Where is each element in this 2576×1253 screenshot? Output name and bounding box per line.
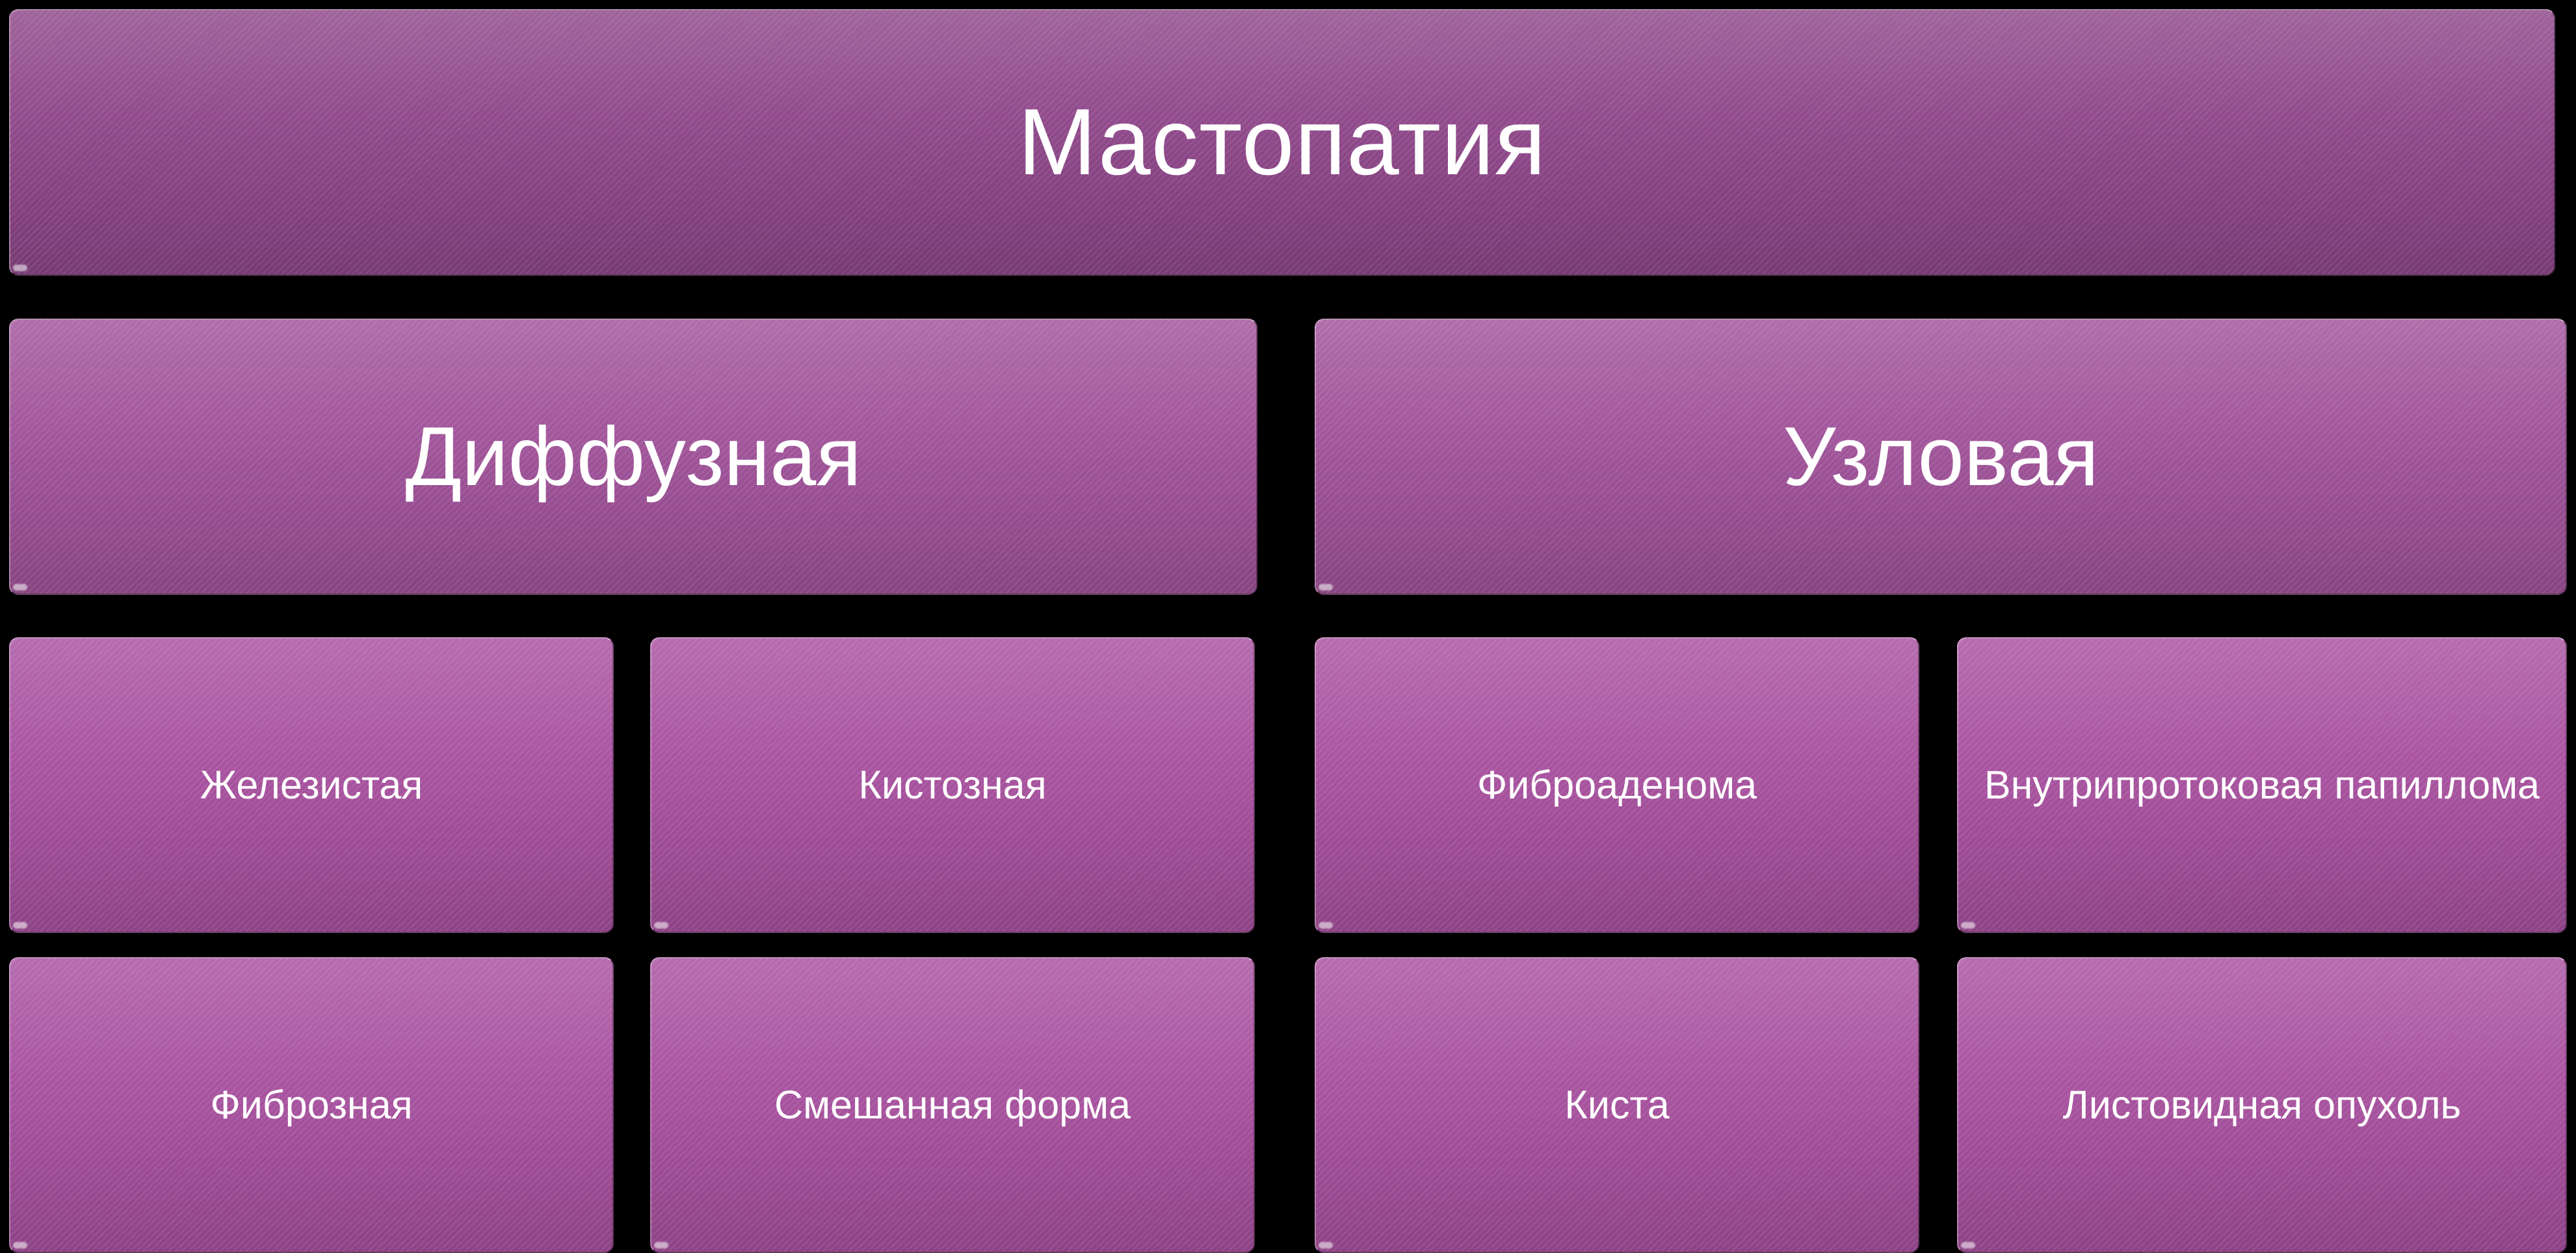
branch-node-label: Диффузная [405,410,861,505]
branch-node-label: Узловая [1783,410,2099,505]
branch-node-diffuse: Диффузная [9,319,1257,595]
leaf-node-phyllodes-tumor: Листовидная опухоль [1957,957,2567,1253]
leaf-node-label: Кистозная [858,763,1046,808]
leaf-node-label: Железистая [200,763,423,808]
leaf-node-intraductal-papilloma: Внутрипротоковая папиллома [1957,637,2567,933]
leaf-node-label: Фиброаденома [1477,763,1757,808]
leaf-node-fibrous: Фиброзная [9,957,614,1253]
leaf-node-label: Киста [1564,1083,1669,1128]
leaf-node-mixed-form: Смешанная форма [650,957,1255,1253]
leaf-node-label: Листовидная опухоль [2063,1083,2462,1128]
leaf-node-label: Смешанная форма [774,1083,1131,1128]
root-node-mastopathy: Мастопатия [9,9,2555,276]
mastopathy-classification-diagram: Мастопатия Диффузная Узловая Железистая … [0,0,2576,1245]
leaf-node-label: Фиброзная [210,1083,412,1128]
leaf-node-fibroadenoma: Фиброаденома [1315,637,1919,933]
leaf-node-cyst: Киста [1315,957,1919,1253]
leaf-node-label: Внутрипротоковая папиллома [1984,763,2540,808]
root-node-label: Мастопатия [1018,88,1547,196]
leaf-node-cystic: Кистозная [650,637,1255,933]
leaf-node-glandular: Железистая [9,637,614,933]
branch-node-nodular: Узловая [1315,319,2567,595]
